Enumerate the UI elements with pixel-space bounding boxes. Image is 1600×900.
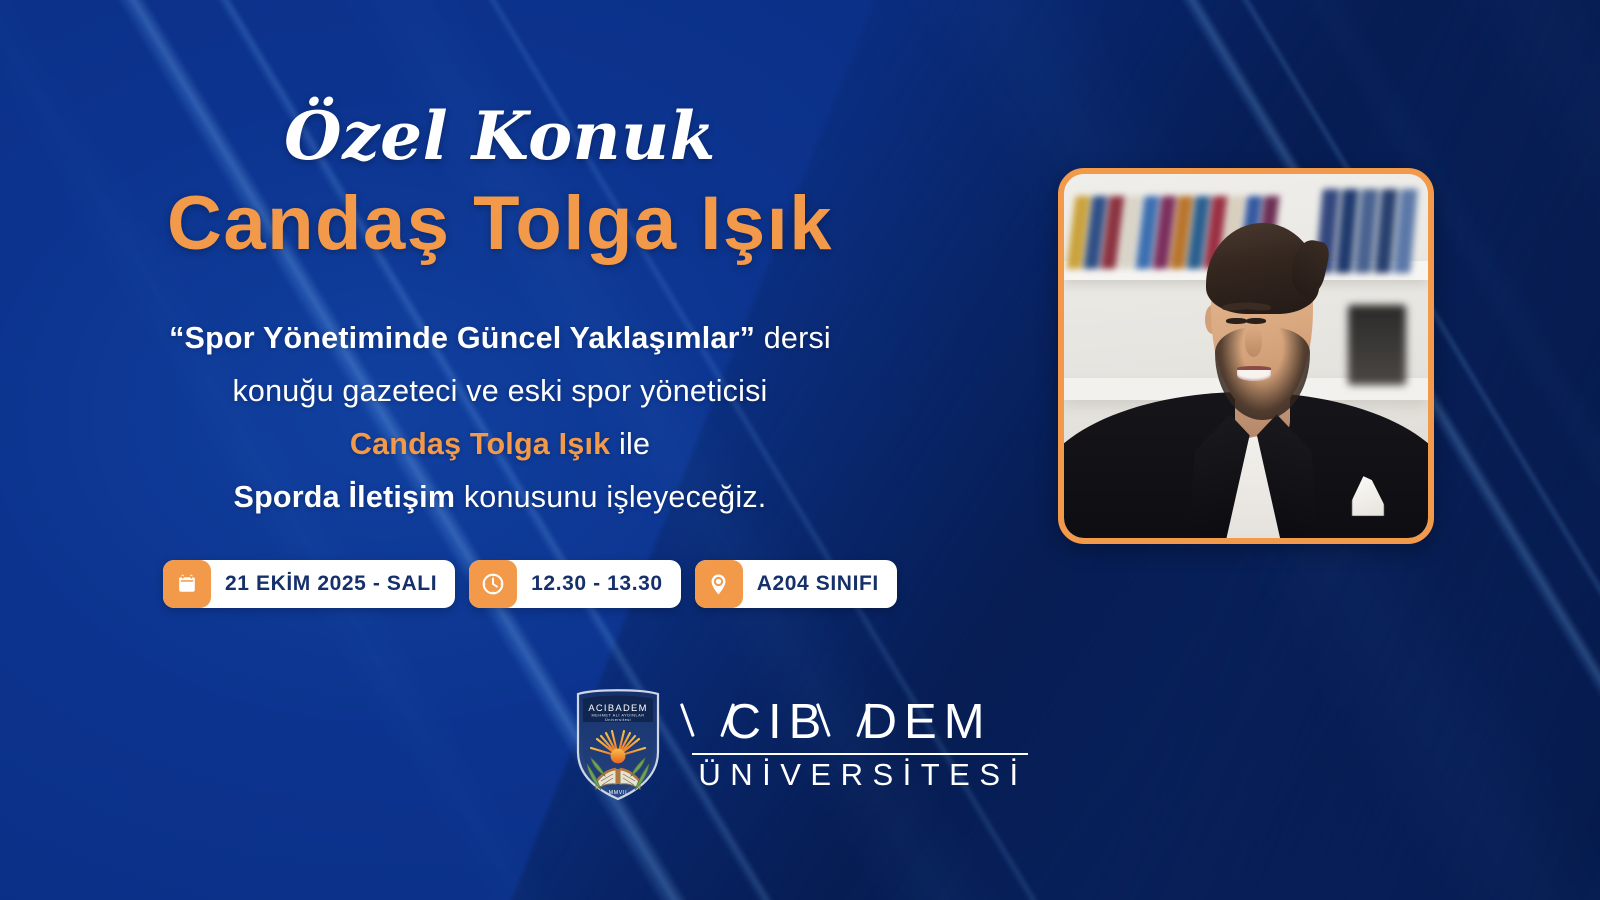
university-crest-icon: ACIBADEM MEHMET ALİ AYDINLAR Üniversites… <box>572 686 664 802</box>
content-column: Özel Konuk Candaş Tolga Işık “Spor Yönet… <box>0 0 1000 660</box>
wordmark-universitesi: ÜNİVERSİTESİ <box>692 759 1027 792</box>
description-line-1-bold: “Spor Yönetiminde Güncel Yaklaşımlar” <box>169 321 755 355</box>
page-title: Candaş Tolga Işık <box>0 186 1000 262</box>
event-date-label: 21 EKİM 2025 - SALI <box>211 572 455 596</box>
chevron-a-glyph-2 <box>828 702 858 737</box>
description-line-4: Sporda İletişim konusunu işleyeceğiz. <box>0 471 1000 524</box>
kicker-text: Özel Konuk <box>0 103 1000 169</box>
calendar-icon <box>163 560 211 608</box>
description-line-1-rest: dersi <box>755 321 831 355</box>
chevron-a-glyph <box>692 702 722 737</box>
poster-canvas: Özel Konuk Candaş Tolga Işık “Spor Yönet… <box>0 0 1600 900</box>
svg-text:MMVII: MMVII <box>609 790 628 796</box>
description-line-4-rest: konusunu işleyeceğiz. <box>455 480 766 514</box>
event-time-pill: 12.30 - 13.30 <box>469 560 681 608</box>
event-location-pill: A204 SINIFI <box>695 560 897 608</box>
event-info-pills: 21 EKİM 2025 - SALI 12.30 - 13.30 <box>163 560 897 608</box>
eye-right <box>1246 318 1266 324</box>
clock-icon <box>469 560 517 608</box>
description-line-3: Candaş Tolga Işık ile <box>0 418 1000 471</box>
description-line-2: konuğu gazeteci ve eski spor yöneticisi <box>0 365 1000 418</box>
hair <box>1206 223 1319 314</box>
eye-left <box>1226 318 1246 324</box>
description-line-4-bold: Sporda İletişim <box>234 480 456 514</box>
university-wordmark: CIBDEM ÜNİVERSİTESİ <box>692 697 1027 792</box>
speaker-photo <box>1058 168 1434 544</box>
svg-text:Üniversitesi: Üniversitesi <box>605 717 631 722</box>
university-logo: ACIBADEM MEHMET ALİ AYDINLAR Üniversites… <box>0 686 1600 802</box>
nose <box>1245 327 1262 357</box>
person-figure <box>1064 174 1428 538</box>
location-pin-icon <box>695 560 743 608</box>
description-line-2-text: konuğu gazeteci ve eski spor yöneticisi <box>232 374 767 408</box>
svg-text:ACIBADEM: ACIBADEM <box>589 702 648 713</box>
description-block: “Spor Yönetiminde Güncel Yaklaşımlar” de… <box>0 312 1000 524</box>
event-time-label: 12.30 - 13.30 <box>517 572 681 596</box>
wordmark-divider <box>692 753 1027 755</box>
description-line-3-accent: Candaş Tolga Işık <box>350 427 610 461</box>
event-location-label: A204 SINIFI <box>743 572 897 596</box>
description-line-1: “Spor Yönetiminde Güncel Yaklaşımlar” de… <box>0 312 1000 365</box>
wordmark-acibadem: CIBDEM <box>692 697 1027 748</box>
event-date-pill: 21 EKİM 2025 - SALI <box>163 560 455 608</box>
description-line-3-rest: ile <box>610 427 650 461</box>
